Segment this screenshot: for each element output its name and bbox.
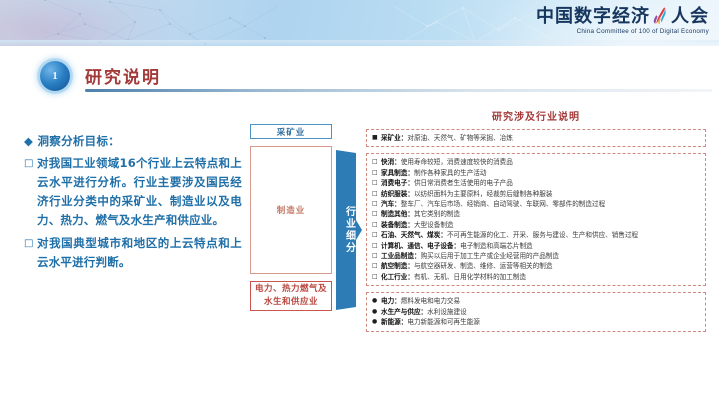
objective-item: □ 对我国典型城市和地区的上云特点和上云水平进行判断。	[24, 234, 242, 272]
logo-english-text: China Committee of 100 of Digital Econom…	[536, 28, 709, 35]
list-marker-icon: □	[372, 261, 381, 271]
industry-desc: 与航空器研发、制造、维修、运营等相关的制造	[414, 261, 552, 271]
category-box-power: 电力、热力燃气及水生和供应业	[250, 281, 332, 311]
industry-name: 装备制造：	[381, 220, 414, 230]
industry-line: □ 航空制造： 与航空器研发、制造、维修、运营等相关的制造	[372, 261, 701, 271]
industry-name: 电力：	[381, 296, 401, 306]
section-number: 1	[40, 61, 70, 91]
list-marker-icon: ●	[372, 317, 381, 327]
industry-line: □ 制造其他： 其它类别的制造	[372, 209, 701, 219]
objectives-panel: ◆ 洞察分析目标： □ 对我国工业领域16个行业上云特点和上云水平进行分析。行业…	[24, 132, 242, 272]
header-banner: 中国数字经济人会 China Committee of 100 of Digit…	[0, 0, 719, 46]
industry-desc: 大型设备制造	[414, 220, 454, 230]
industry-line: ■ 采矿业： 对原油、天然气、矿物等采掘、冶炼	[372, 133, 701, 143]
industry-group-power: ● 电力： 燃料发电和电力交易 ● 水生产与供应： 水利设施建设 ● 新能源： …	[366, 292, 706, 331]
logo-bai-mark-icon	[651, 6, 670, 25]
industry-breakdown-arrow: 行业细分	[336, 150, 362, 310]
industry-line: □ 计算机、通信、电子设备： 电子制造和高端芯片制造	[372, 241, 701, 251]
industry-name: 制造其他：	[381, 209, 414, 219]
industry-desc: 以纺织面料为主要原料，经裁剪后缝制各种服装	[414, 189, 552, 199]
industry-line: □ 纺织服装： 以纺织面料为主要原料，经裁剪后缝制各种服装	[372, 189, 701, 199]
objectives-heading: ◆ 洞察分析目标：	[24, 132, 242, 150]
industry-desc: 燃料发电和电力交易	[401, 296, 460, 306]
logo-chinese-text: 中国数字经济人会	[536, 6, 709, 27]
section-number-badge: 1	[40, 61, 70, 91]
objectives-heading-label: 洞察分析目标：	[37, 134, 120, 148]
list-marker-icon: □	[372, 272, 381, 282]
list-marker-icon: □	[372, 251, 381, 261]
industry-line: □ 工业品制造： 购买以后用于加工生产或企业经营用的产品制造	[372, 251, 701, 261]
list-marker-icon: ●	[372, 307, 381, 317]
logo-cn-lead: 中国数字经济	[536, 6, 650, 27]
list-marker-icon: □	[372, 189, 381, 199]
objectives-heading-bullet: ◆	[24, 134, 33, 148]
title-underline	[85, 89, 712, 92]
brand-logo: 中国数字经济人会 China Committee of 100 of Digit…	[536, 6, 709, 35]
industry-line: □ 消费电子： 供日常消费者生活使用的电子产品	[372, 178, 701, 188]
industry-desc: 不可再生能源的化工、开采、服务与建设、生产和供应、销售过程	[447, 230, 638, 240]
industry-name: 石油、天然气、煤炭：	[381, 230, 447, 240]
category-box-manufacturing: 制造业	[250, 146, 332, 274]
industry-group-mining: ■ 采矿业： 对原油、天然气、矿物等采掘、冶炼	[366, 129, 706, 147]
industry-desc: 供日常消费者生活使用的电子产品	[414, 178, 513, 188]
industry-desc: 有机、无机、日用化学材料的加工制造	[414, 272, 526, 282]
industry-line: □ 装备制造： 大型设备制造	[372, 220, 701, 230]
industry-name: 水生产与供应：	[381, 307, 427, 317]
industry-desc: 购买以后用于加工生产或企业经营用的产品制造	[421, 251, 559, 261]
industry-desc: 对原油、天然气、矿物等采掘、冶炼	[407, 133, 513, 143]
industry-line: ● 新能源： 电力新能源和可再生能源	[372, 317, 701, 327]
category-box-column: 采矿业 制造业 电力、热力燃气及水生和供应业	[250, 124, 332, 311]
industry-desc: 制作各种家具的生产活动	[414, 168, 487, 178]
category-box-mining: 采矿业	[250, 124, 332, 139]
industry-line: ● 电力： 燃料发电和电力交易	[372, 296, 701, 306]
industry-name: 航空制造：	[381, 261, 414, 271]
industry-name: 新能源：	[381, 317, 407, 327]
industry-line: □ 快消： 使用寿命较短，消费速度较快的消费品	[372, 157, 701, 167]
industry-group-manufacturing: □ 快消： 使用寿命较短，消费速度较快的消费品 □ 家具制造： 制作各种家具的生…	[366, 153, 706, 286]
slide-root: 中国数字经济人会 China Committee of 100 of Digit…	[0, 0, 719, 405]
list-marker-icon: □	[372, 241, 381, 251]
industry-line: □ 化工行业： 有机、无机、日用化学材料的加工制造	[372, 272, 701, 282]
objective-item: □ 对我国工业领域16个行业上云特点和上云水平进行分析。行业主要涉及国民经济行业…	[24, 154, 242, 230]
industry-desc: 使用寿命较短，消费速度较快的消费品	[401, 157, 513, 167]
industry-description-panel: 研究涉及行业说明 ■ 采矿业： 对原油、天然气、矿物等采掘、冶炼 □ 快消： 使…	[366, 108, 706, 338]
list-marker-icon: ■	[372, 133, 381, 143]
objective-text: 对我国典型城市和地区的上云特点和上云水平进行判断。	[37, 234, 242, 272]
list-marker-icon: □	[372, 168, 381, 178]
banner-fade	[0, 40, 719, 46]
industry-desc: 整车厂、汽车后市场、经销商、自动驾驶、车联网、零部件的制造过程	[401, 199, 605, 209]
industry-name: 计算机、通信、电子设备：	[381, 241, 460, 251]
list-marker-icon: □	[372, 157, 381, 167]
industry-name: 工业品制造：	[381, 251, 421, 261]
industry-name: 快消：	[381, 157, 401, 167]
industry-line: □ 石油、天然气、煤炭： 不可再生能源的化工、开采、服务与建设、生产和供应、销售…	[372, 230, 701, 240]
industry-name: 化工行业：	[381, 272, 414, 282]
arrow-label: 行业细分	[336, 150, 362, 310]
list-marker-icon: □	[372, 220, 381, 230]
objective-text: 对我国工业领域16个行业上云特点和上云水平进行分析。行业主要涉及国民经济行业分类…	[37, 154, 242, 230]
industry-name: 家具制造：	[381, 168, 414, 178]
industry-panel-title: 研究涉及行业说明	[366, 108, 706, 123]
objective-bullet-icon: □	[24, 234, 37, 272]
industry-line: ● 水生产与供应： 水利设施建设	[372, 307, 701, 317]
slide-title-area: 1 研究说明	[22, 58, 702, 96]
list-marker-icon: □	[372, 178, 381, 188]
list-marker-icon: □	[372, 199, 381, 209]
industry-line: □ 汽车： 整车厂、汽车后市场、经销商、自动驾驶、车联网、零部件的制造过程	[372, 199, 701, 209]
list-marker-icon: ●	[372, 296, 381, 306]
industry-name: 纺织服装：	[381, 189, 414, 199]
industry-desc: 电力新能源和可再生能源	[407, 317, 480, 327]
industry-line: □ 家具制造： 制作各种家具的生产活动	[372, 168, 701, 178]
industry-desc: 电子制造和高端芯片制造	[460, 241, 533, 251]
logo-cn-tail: 人会	[671, 6, 709, 27]
industry-name: 汽车：	[381, 199, 401, 209]
list-marker-icon: □	[372, 209, 381, 219]
list-marker-icon: □	[372, 230, 381, 240]
industry-desc: 其它类别的制造	[414, 209, 460, 219]
industry-name: 采矿业：	[381, 133, 407, 143]
objective-bullet-icon: □	[24, 154, 37, 230]
page-title: 研究说明	[85, 63, 161, 88]
industry-desc: 水利设施建设	[427, 307, 467, 317]
industry-name: 消费电子：	[381, 178, 414, 188]
